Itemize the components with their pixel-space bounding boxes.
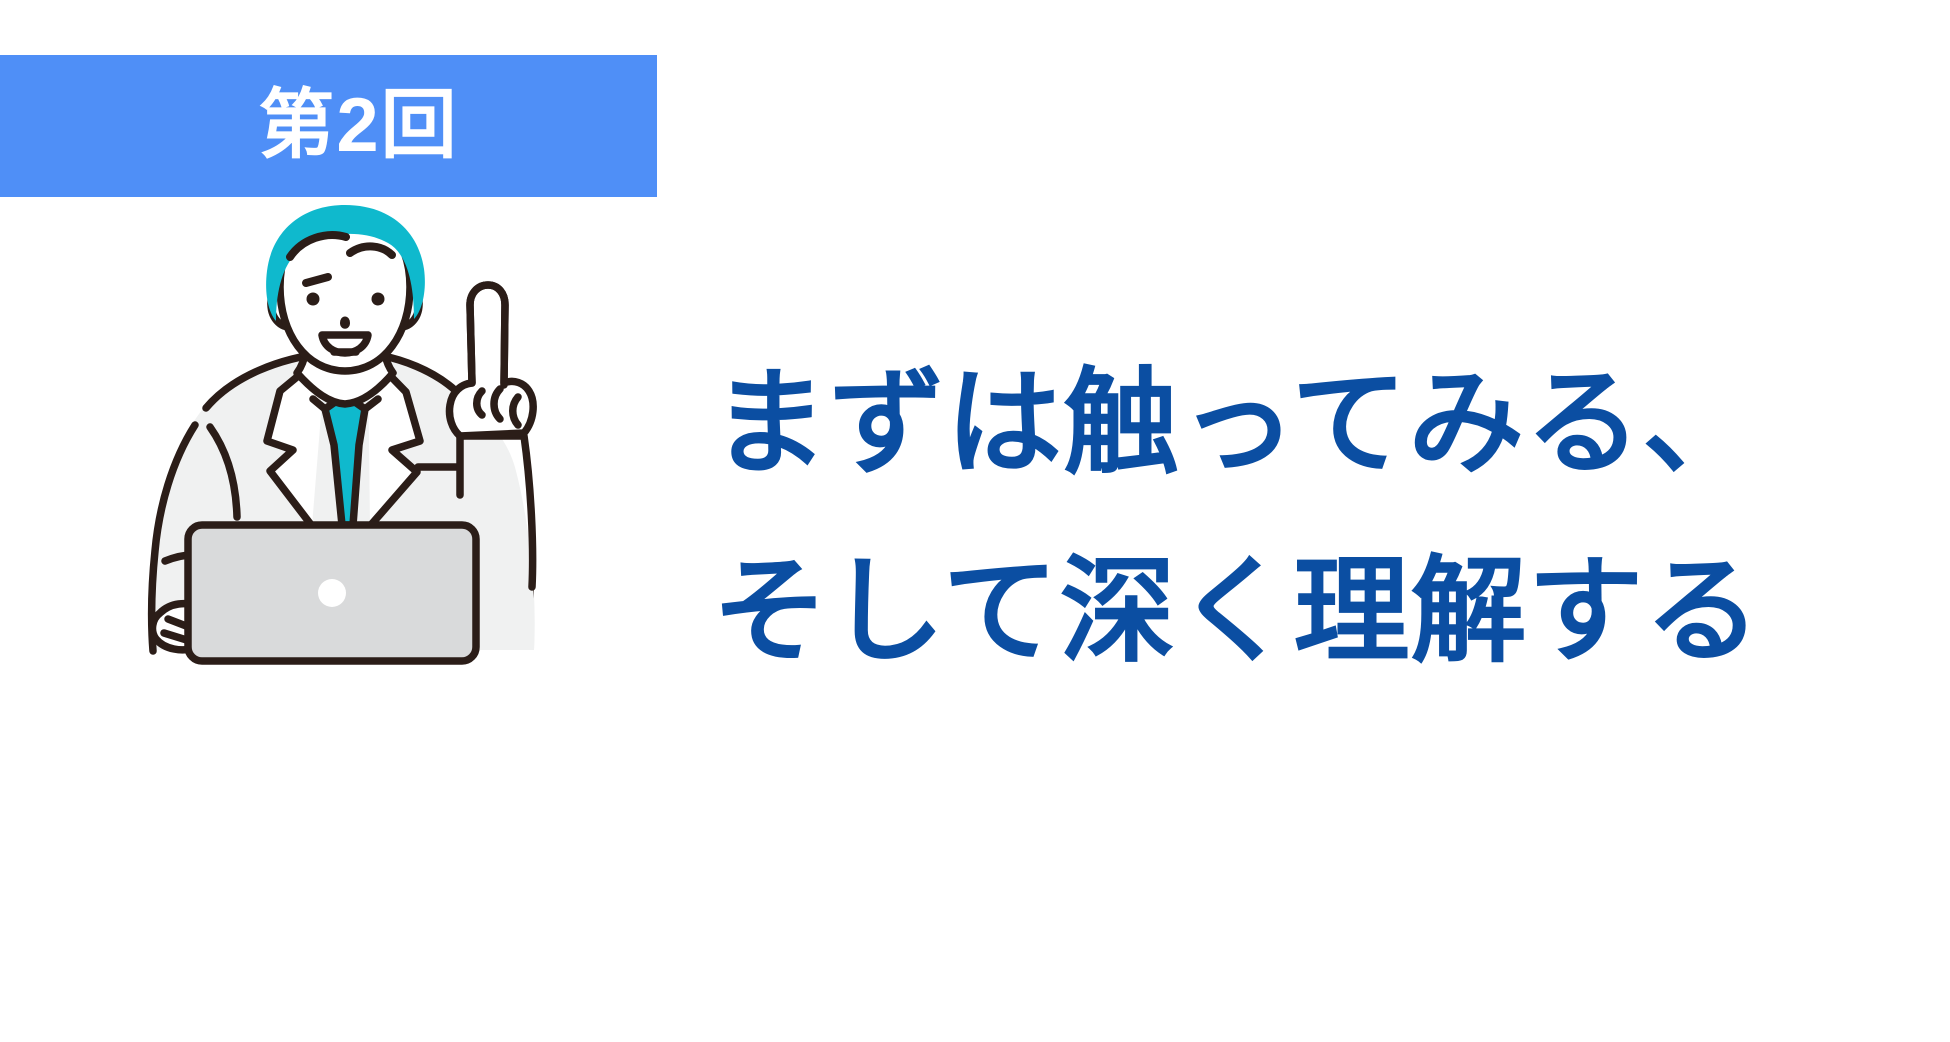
episode-banner: 第2回 — [0, 55, 657, 197]
laptop-logo — [318, 579, 346, 607]
headline-line-2: そして深く理解する — [712, 518, 1882, 706]
nose — [342, 319, 348, 327]
headline: まずは触ってみる、 そして深く理解する — [712, 330, 1882, 706]
left-eye — [307, 293, 320, 306]
right-eye — [372, 293, 385, 306]
illustration-man-with-laptop — [130, 195, 560, 695]
episode-label: 第2回 — [258, 88, 458, 164]
illustration-svg — [130, 195, 560, 695]
headline-line-1: まずは触ってみる、 — [712, 330, 1882, 518]
pointing-hand — [449, 285, 533, 436]
